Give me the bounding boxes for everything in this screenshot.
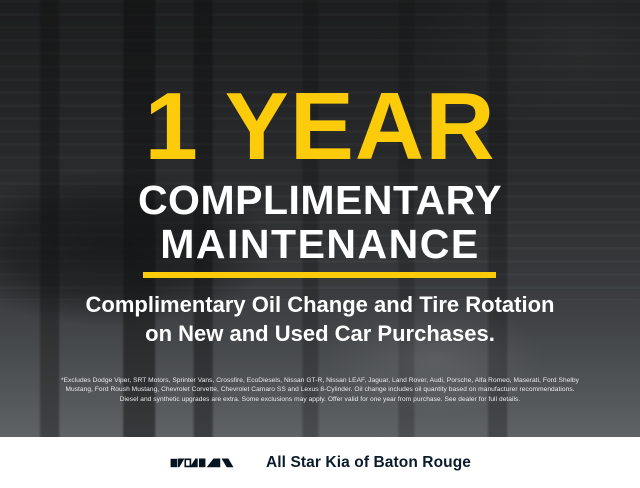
offer-description: Complimentary Oil Change and Tire Rotati…	[0, 290, 640, 348]
offer-line-2: on New and Used Car Purchases.	[0, 319, 640, 348]
footer-bar: All Star Kia of Baton Rouge	[0, 437, 640, 488]
headline-year: 1 YEAR	[0, 79, 640, 175]
headline-subtitle-line-1: COMPLIMENTARY	[138, 177, 502, 223]
headline-subtitle: COMPLIMENTARY MAINTENANCE	[0, 178, 640, 266]
hero-content: 1 YEAR COMPLIMENTARY MAINTENANCE Complim…	[0, 0, 640, 437]
legal-disclaimer: *Excludes Dodge Viper, SRT Motors, Sprin…	[16, 376, 624, 404]
dealer-name: All Star Kia of Baton Rouge	[266, 454, 471, 472]
promotional-banner: 1 YEAR COMPLIMENTARY MAINTENANCE Complim…	[0, 0, 640, 488]
footer-brand-group: All Star Kia of Baton Rouge	[169, 453, 471, 473]
legal-line-2: Mustang, Ford Roush Mustang, Chevrolet C…	[16, 385, 624, 394]
yellow-divider-rule	[143, 272, 496, 278]
legal-line-3: Diesel and synthetic upgrades are extra.…	[16, 395, 624, 404]
kia-logo	[169, 453, 247, 473]
headline-subtitle-line-2: MAINTENANCE	[0, 222, 640, 266]
legal-line-1: *Excludes Dodge Viper, SRT Motors, Sprin…	[16, 376, 624, 385]
offer-line-1: Complimentary Oil Change and Tire Rotati…	[0, 290, 640, 319]
hero-section: 1 YEAR COMPLIMENTARY MAINTENANCE Complim…	[0, 0, 640, 437]
